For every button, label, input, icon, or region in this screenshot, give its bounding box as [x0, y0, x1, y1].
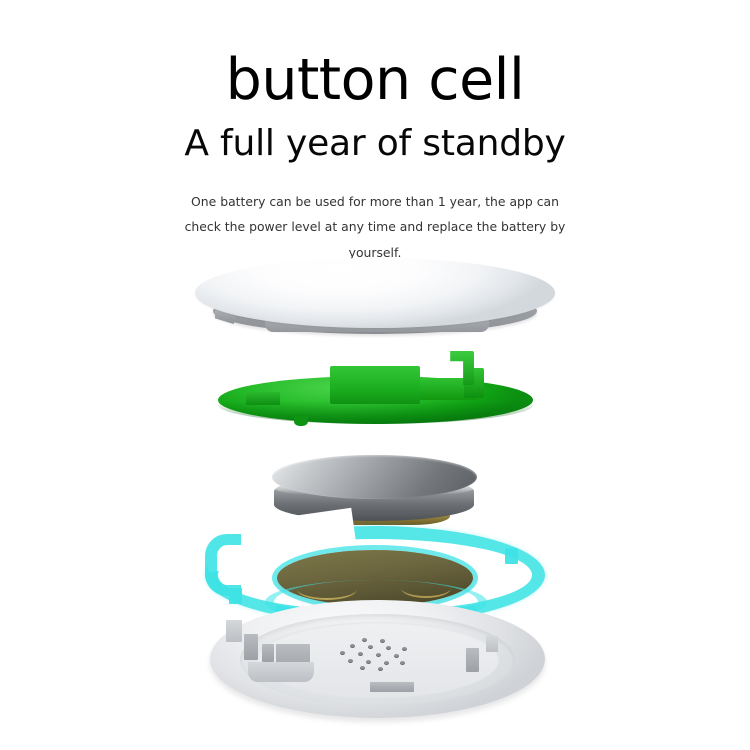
speaker-grille-hole	[378, 667, 383, 671]
base-post-right	[466, 648, 479, 672]
speaker-grille-hole	[340, 651, 345, 655]
speaker-grille-hole	[394, 654, 399, 658]
pcb-left-notch	[246, 392, 280, 405]
base-ledge-bottom-left	[248, 662, 314, 682]
speaker-grille-hole	[358, 652, 363, 656]
speaker-grille-hole	[362, 638, 367, 642]
pcb-foot	[294, 414, 308, 426]
bracket-tab-right	[505, 548, 518, 564]
speaker-grille-hole	[348, 659, 353, 663]
top-cover-layer	[195, 258, 555, 348]
speaker-grille-hole	[400, 661, 405, 665]
heading-block: button cell A full year of standby One b…	[0, 0, 750, 265]
exploded-view-diagram	[0, 250, 750, 750]
speaker-grille-hole	[368, 645, 373, 649]
base-post-left-1	[226, 620, 242, 642]
speaker-grille-hole	[380, 639, 385, 643]
pcb-frame-layer	[218, 350, 533, 430]
pcb-center-block	[330, 366, 420, 404]
base-post-left-3	[262, 644, 274, 662]
product-feature-page: button cell A full year of standby One b…	[0, 0, 750, 750]
speaker-grille-hole	[402, 647, 407, 651]
cover-dome	[195, 258, 555, 328]
bracket-left-arm	[205, 534, 241, 596]
speaker-grille	[336, 638, 412, 672]
battery-top-face	[272, 455, 477, 499]
base-post-left-2	[244, 634, 258, 660]
speaker-grille-hole	[376, 653, 381, 657]
speaker-grille-hole	[366, 660, 371, 664]
page-subtitle: A full year of standby	[0, 109, 750, 162]
speaker-grille-hole	[386, 646, 391, 650]
speaker-grille-hole	[360, 666, 365, 670]
speaker-grille-hole	[384, 661, 389, 665]
speaker-grille-hole	[350, 644, 355, 648]
page-title: button cell	[0, 0, 750, 109]
bottom-base-layer	[210, 600, 545, 740]
base-post-bottom	[370, 682, 414, 692]
base-post-right-2	[486, 636, 498, 652]
